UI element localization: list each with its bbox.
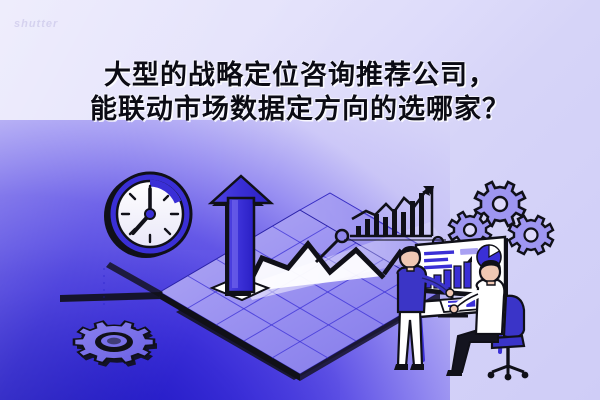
poster-canvas: shutter 大型的战略定位咨询推荐公司， 能联动市场数据定方向的选哪家？ bbox=[0, 0, 600, 400]
illustration bbox=[0, 0, 600, 400]
wall-clock bbox=[104, 173, 191, 258]
large-gear bbox=[74, 321, 157, 366]
